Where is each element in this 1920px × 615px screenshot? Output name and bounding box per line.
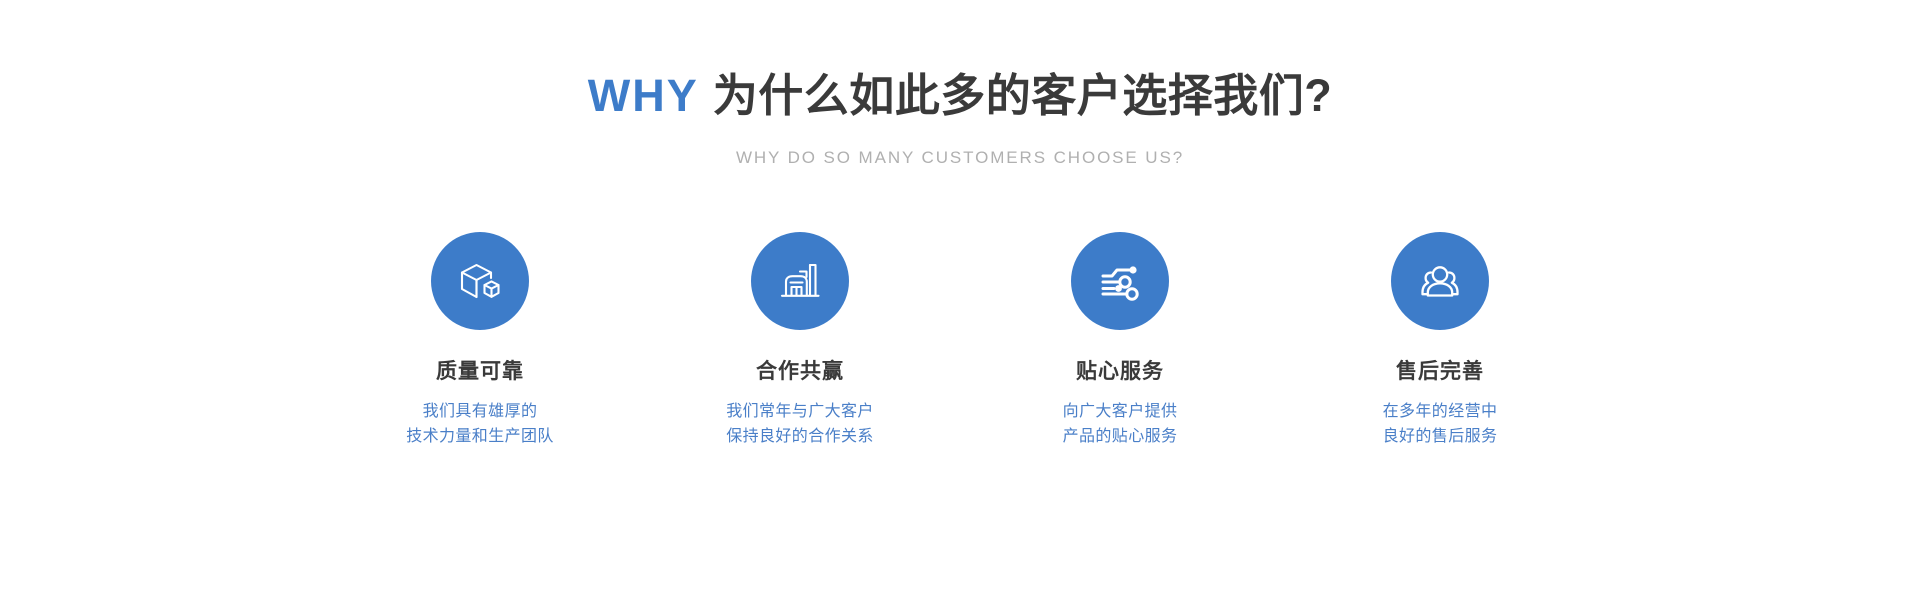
feature-description: 我们常年与广大客户 保持良好的合作关系 xyxy=(726,399,874,449)
title-accent-why: WHY xyxy=(588,70,699,121)
feature-title: 质量可靠 xyxy=(436,358,524,386)
why-choose-us-section: WHY为什么如此多的客户选择我们? WHY DO SO MANY CUSTOME… xyxy=(0,0,1920,615)
title-main-text: 为什么如此多的客户选择我们? xyxy=(713,70,1333,121)
page-subtitle: WHY DO SO MANY CUSTOMERS CHOOSE US? xyxy=(0,146,1920,170)
feature-desc-line-1: 在多年的经营中 xyxy=(1383,399,1498,424)
feature-desc-line-1: 向广大客户提供 xyxy=(1063,399,1178,424)
feature-desc-line-2: 产品的贴心服务 xyxy=(1063,424,1178,449)
feature-item-aftersales[interactable]: 售后完善 在多年的经营中 良好的售后服务 xyxy=(1305,232,1575,449)
feature-desc-line-2: 保持良好的合作关系 xyxy=(726,424,874,449)
heading-block: WHY为什么如此多的客户选择我们? WHY DO SO MANY CUSTOME… xyxy=(0,68,1920,170)
page-title: WHY为什么如此多的客户选择我们? xyxy=(0,68,1920,124)
feature-description: 向广大客户提供 产品的贴心服务 xyxy=(1063,399,1178,449)
feature-item-quality[interactable]: 质量可靠 我们具有雄厚的 技术力量和生产团队 xyxy=(345,232,615,449)
feature-desc-line-1: 我们具有雄厚的 xyxy=(406,399,554,424)
people-group-icon xyxy=(1412,253,1468,309)
feature-desc-line-2: 良好的售后服务 xyxy=(1383,424,1498,449)
feature-title: 售后完善 xyxy=(1396,358,1484,386)
feature-icon-circle[interactable] xyxy=(1391,232,1489,330)
feature-title: 合作共赢 xyxy=(756,358,844,386)
circuit-network-icon xyxy=(1092,253,1148,309)
feature-item-cooperation[interactable]: 合作共赢 我们常年与广大客户 保持良好的合作关系 xyxy=(665,232,935,449)
feature-icon-circle[interactable] xyxy=(751,232,849,330)
feature-icon-circle[interactable] xyxy=(1071,232,1169,330)
feature-icon-circle[interactable] xyxy=(431,232,529,330)
factory-icon xyxy=(772,253,828,309)
feature-desc-line-1: 我们常年与广大客户 xyxy=(726,399,874,424)
feature-item-service[interactable]: 贴心服务 向广大客户提供 产品的贴心服务 xyxy=(985,232,1255,449)
feature-description: 在多年的经营中 良好的售后服务 xyxy=(1383,399,1498,449)
feature-description: 我们具有雄厚的 技术力量和生产团队 xyxy=(406,399,554,449)
feature-title: 贴心服务 xyxy=(1076,358,1164,386)
feature-desc-line-2: 技术力量和生产团队 xyxy=(406,424,554,449)
package-box-icon xyxy=(452,253,508,309)
feature-list: 质量可靠 我们具有雄厚的 技术力量和生产团队 xyxy=(345,232,1575,449)
